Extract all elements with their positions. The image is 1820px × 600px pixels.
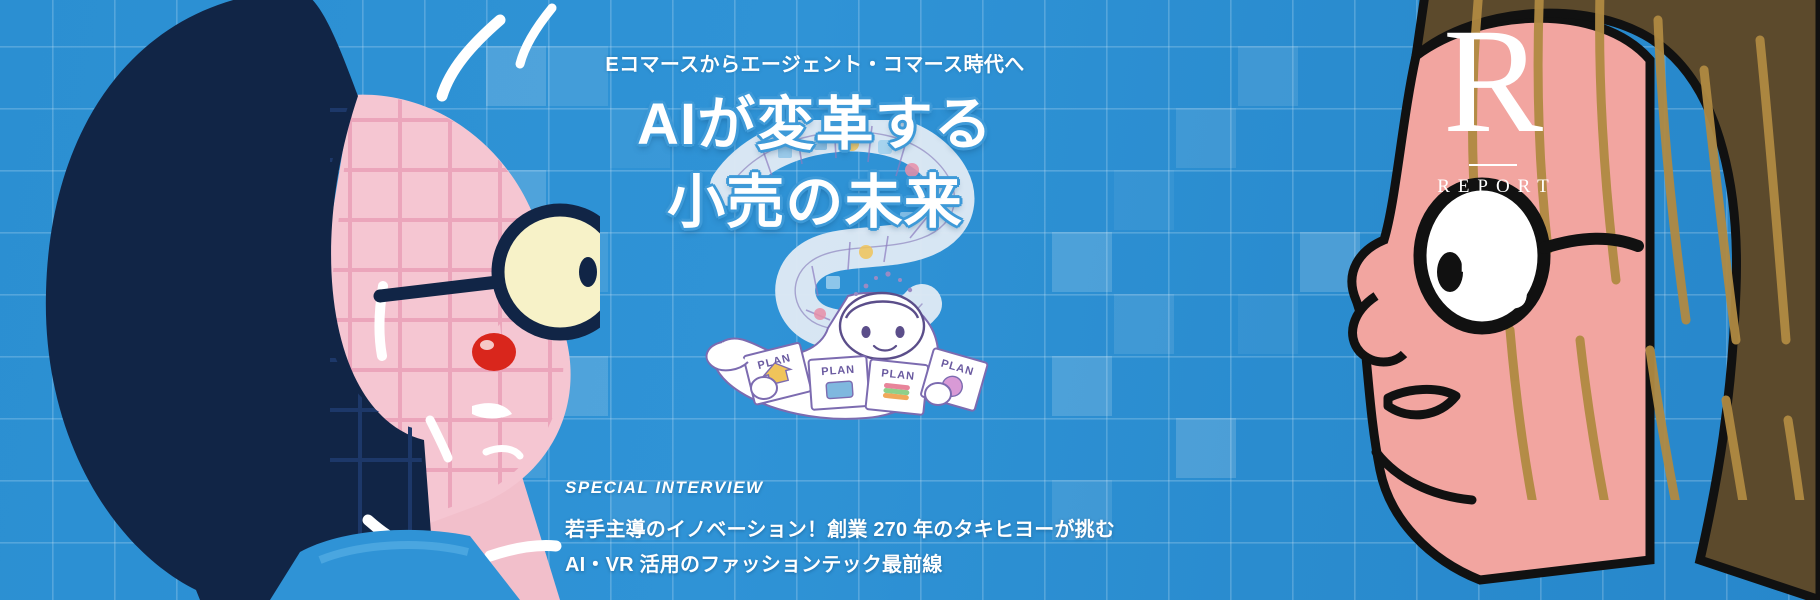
right-character-illustration — [1180, 0, 1820, 600]
report-banner: PLAN PLAN PLAN PLAN — [0, 0, 1820, 600]
ghost-hand-left — [751, 377, 777, 399]
ghost-hand-right — [925, 383, 951, 405]
ai-ghost-illustration: PLAN PLAN PLAN PLAN — [660, 120, 990, 440]
left-nose-tip — [472, 333, 516, 371]
ghost-eye-right — [895, 326, 904, 338]
ghost-eye-left — [861, 326, 870, 338]
right-eye-pupil — [1437, 252, 1463, 292]
left-eye-pupil — [579, 257, 597, 287]
left-hair-shine — [442, 20, 500, 96]
right-mouth — [1388, 389, 1456, 414]
left-nose-highlight — [480, 340, 494, 350]
svg-text:PLAN: PLAN — [821, 364, 856, 378]
ghost-head — [840, 293, 924, 359]
card-ribbon — [730, 122, 954, 331]
left-character-illustration — [0, 0, 600, 600]
right-glasses-lens — [1420, 184, 1544, 328]
left-hair-shine — [520, 8, 552, 64]
